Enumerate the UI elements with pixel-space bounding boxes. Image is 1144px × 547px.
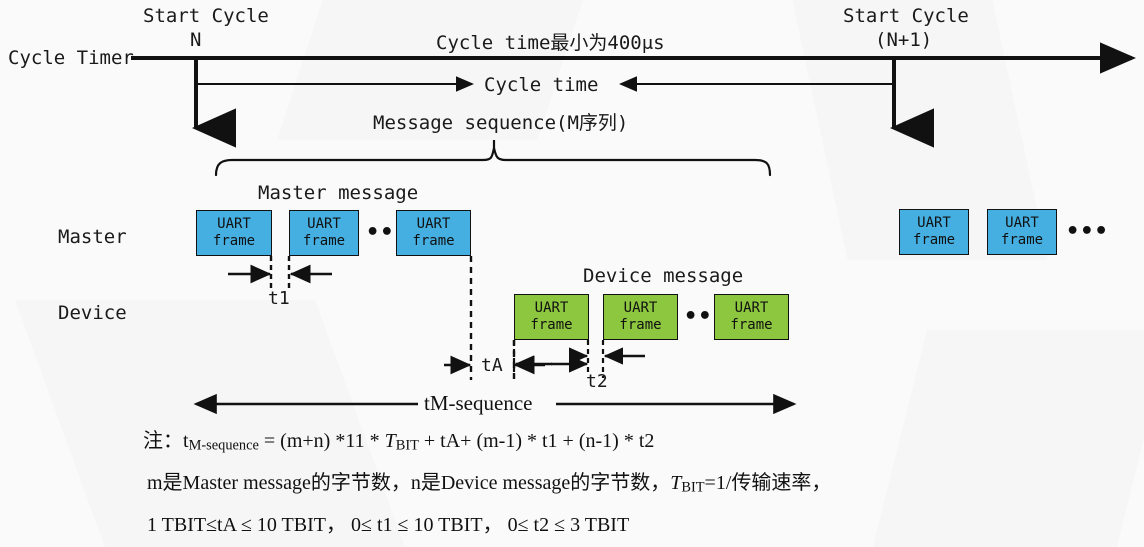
next-cycle-uart-frame-2[interactable]: UART frame <box>987 209 1057 255</box>
formula-t-italic: T <box>385 430 396 452</box>
ta-label: tA <box>481 355 503 376</box>
note-line2-a: m是Master message的字节数，n是Device message的字节… <box>147 472 670 494</box>
frame-line1: UART <box>307 216 341 233</box>
frame-line1: UART <box>217 216 251 233</box>
note-line2-sub: BIT <box>681 480 704 496</box>
start-cycle-n-label-line2: N <box>190 29 201 51</box>
message-sequence-label: Message sequence(M序列) <box>373 108 628 135</box>
frame-line2: frame <box>213 233 255 250</box>
start-cycle-n1-label-line2: (N+1) <box>875 29 932 51</box>
note-line-3: 1 TBIT≤tA ≤ 10 TBIT， 0≤ t1 ≤ 10 TBIT， 0≤… <box>147 508 629 537</box>
frame-line2: frame <box>412 233 454 250</box>
note-line2-t: T <box>670 472 681 494</box>
next-cycle-uart-frame-1[interactable]: UART frame <box>899 209 969 255</box>
frame-line1: UART <box>417 216 451 233</box>
device-uart-frame-3[interactable]: UART frame <box>714 294 789 340</box>
note-formula-line: 注：tM-sequence = (m+n) *11 * TBIT + tA+ (… <box>143 424 654 455</box>
master-uart-frame-1[interactable]: UART frame <box>196 210 272 256</box>
master-message-label: Master message <box>258 182 418 204</box>
t1-gap-label: t1 <box>268 288 290 309</box>
note-line-2: m是Master message的字节数，n是Device message的字节… <box>147 466 831 497</box>
device-uart-frame-2[interactable]: UART frame <box>603 294 678 340</box>
frame-line2: frame <box>1001 232 1043 249</box>
cycle-timer-row-label: Cycle Timer <box>8 47 134 69</box>
start-cycle-n1-label-line1: Start Cycle <box>843 5 969 27</box>
frame-line1: UART <box>1005 215 1039 232</box>
frame-line2: frame <box>530 317 572 334</box>
next-cycle-frames-ellipsis: ••• <box>1066 219 1109 244</box>
master-uart-frame-2[interactable]: UART frame <box>289 210 359 256</box>
frame-line2: frame <box>730 317 772 334</box>
frame-line2: frame <box>619 317 661 334</box>
formula-rest-a: = (m+n) *11 * <box>259 430 385 452</box>
cycle-time-minimum-note: Cycle time最小为400μs <box>436 28 665 55</box>
tm-sequence-text: tM-sequence <box>424 391 532 415</box>
frame-line1: UART <box>535 300 569 317</box>
formula-rest-b: + tA+ (m-1) * t1 + (n-1) * t2 <box>419 430 654 452</box>
cycle-time-label: Cycle time <box>484 74 598 96</box>
master-row-label: Master <box>58 226 127 248</box>
device-row-label: Device <box>58 302 127 324</box>
start-cycle-n-label-line1: Start Cycle <box>143 5 269 27</box>
frame-line2: frame <box>913 232 955 249</box>
frame-line1: UART <box>624 300 658 317</box>
frame-line1: UART <box>735 300 769 317</box>
diagram-canvas: Cycle Timer Start Cycle N Start Cycle (N… <box>0 0 1144 547</box>
tm-sequence-label: tM-sequence <box>424 391 532 416</box>
device-message-label: Device message <box>583 265 743 287</box>
frame-line1: UART <box>917 215 951 232</box>
formula-bit-sub: BIT <box>396 438 419 454</box>
formula-lhs-sub: M-sequence <box>189 438 259 454</box>
note-prefix: 注： <box>143 430 183 452</box>
device-uart-frame-1[interactable]: UART frame <box>514 294 589 340</box>
t2-gap-label: t2 <box>586 371 608 392</box>
master-uart-frame-3[interactable]: UART frame <box>396 210 471 256</box>
note-line2-b: =1/传输速率， <box>705 472 832 494</box>
frame-line2: frame <box>303 233 345 250</box>
